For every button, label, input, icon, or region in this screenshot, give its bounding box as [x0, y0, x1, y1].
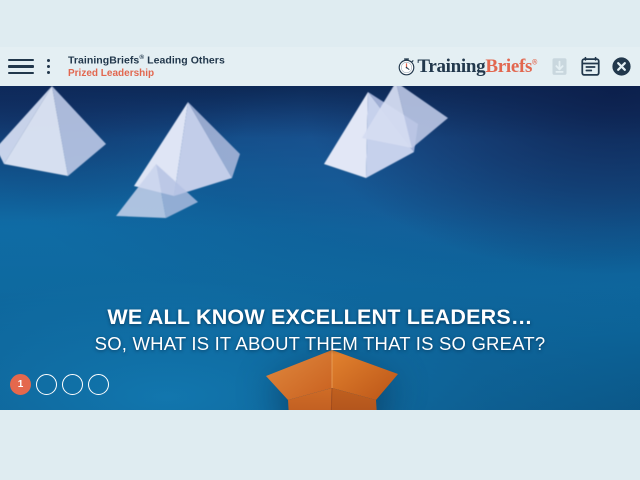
lesson-title: Prized Leadership: [68, 68, 397, 80]
logo-word-training: Training: [417, 56, 485, 77]
more-options-icon[interactable]: [40, 56, 56, 78]
course-title-rest: Leading Others: [144, 54, 225, 66]
origami-pyramid-icon: [0, 86, 122, 188]
stopwatch-icon: [397, 57, 416, 76]
slide-pagination: 1: [10, 374, 109, 395]
hamburger-line: [8, 72, 34, 75]
kebab-dot: [47, 59, 50, 62]
header-actions: [549, 56, 632, 77]
kebab-dot: [47, 65, 50, 68]
download-icon: [549, 56, 570, 77]
pagination-dot-2[interactable]: [36, 374, 57, 395]
pagination-dot-1[interactable]: 1: [10, 374, 31, 395]
logo-registered-mark: ®: [532, 60, 537, 67]
pagination-dot-4[interactable]: [88, 374, 109, 395]
trainingbriefs-logo: TrainingBriefs®: [397, 57, 537, 76]
course-title-brand: TrainingBriefs: [68, 54, 139, 66]
hamburger-menu-icon[interactable]: [8, 56, 34, 78]
slide-stage: WE ALL KNOW EXCELLENT LEADERS… SO, WHAT …: [0, 86, 640, 410]
origami-pyramid-icon: [112, 162, 204, 220]
course-player: TrainingBriefs® Leading Others Prized Le…: [0, 0, 640, 480]
origami-pyramid-icon: [356, 86, 452, 152]
pagination-dot-3[interactable]: [62, 374, 83, 395]
hamburger-line: [8, 59, 34, 62]
hamburger-line: [8, 65, 34, 68]
logo-word-briefs: Briefs: [485, 56, 532, 77]
header-titles: TrainingBriefs® Leading Others Prized Le…: [68, 54, 397, 80]
course-title: TrainingBriefs® Leading Others: [68, 54, 397, 67]
kebab-dot: [47, 71, 50, 74]
player-header: TrainingBriefs® Leading Others Prized Le…: [0, 47, 640, 86]
pagination-dot-label: 1: [18, 380, 24, 390]
origami-pyramid-orange-icon: [258, 348, 426, 410]
close-icon[interactable]: [611, 56, 632, 77]
notes-icon[interactable]: [580, 56, 601, 77]
